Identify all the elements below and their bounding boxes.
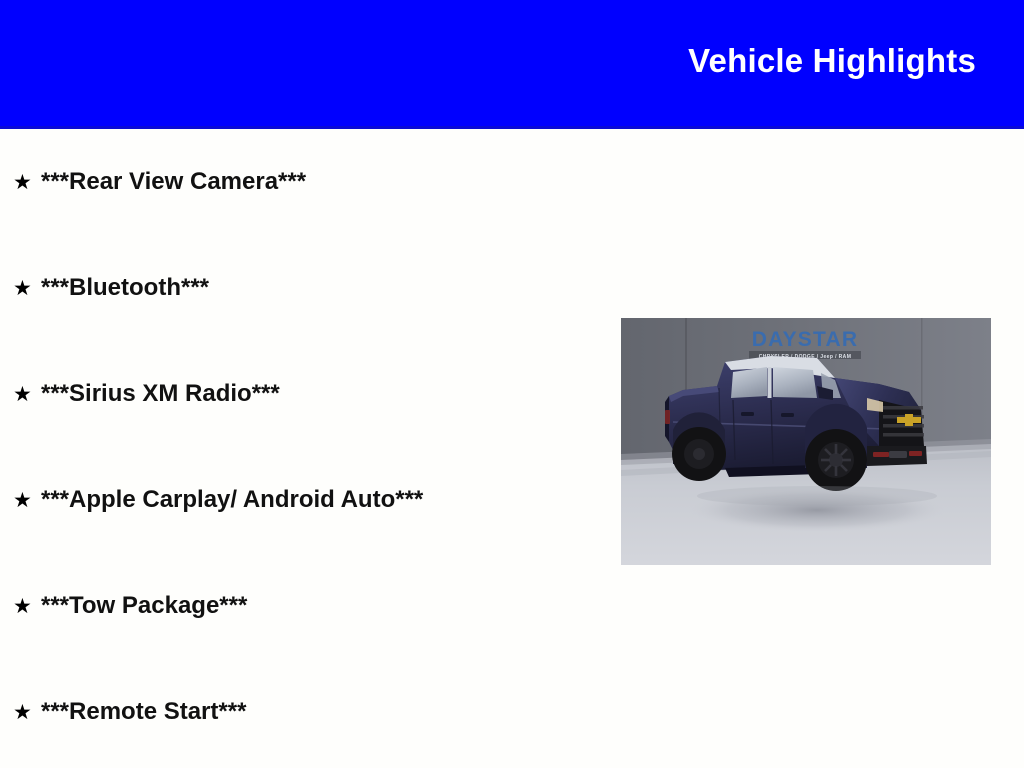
highlight-label: ***Apple Carplay/ Android Auto*** — [41, 488, 423, 512]
star-bullet-icon: ★ — [13, 596, 41, 617]
list-item: ★ ***Remote Start*** — [0, 659, 600, 765]
vehicle-highlights-list: ★ ***Rear View Camera*** ★ ***Bluetooth*… — [0, 129, 600, 765]
rear-door-window — [731, 367, 767, 398]
star-bullet-icon: ★ — [13, 278, 41, 299]
header-banner: Vehicle Highlights — [0, 0, 1024, 129]
page-title: Vehicle Highlights — [688, 44, 976, 77]
highlight-label: ***Sirius XM Radio*** — [41, 382, 280, 406]
highlight-label: ***Remote Start*** — [41, 700, 246, 724]
door-handle-rear — [741, 412, 754, 416]
star-bullet-icon: ★ — [13, 384, 41, 405]
tail-light — [665, 410, 670, 424]
list-item: ★ ***Tow Package*** — [0, 553, 600, 659]
grille-slat — [883, 424, 924, 428]
list-item: ★ ***Bluetooth*** — [0, 235, 600, 341]
reflector-left — [873, 452, 889, 457]
list-item: ★ ***Sirius XM Radio*** — [0, 341, 600, 447]
grille-slat — [883, 433, 924, 437]
list-item: ★ ***Rear View Camera*** — [0, 129, 600, 235]
highlight-label: ***Rear View Camera*** — [41, 170, 306, 194]
highlight-label: ***Tow Package*** — [41, 594, 247, 618]
vehicle-photo-illustration: DAYSTAR CHRYSLER / DODGE / Jeep / RAM — [621, 318, 991, 565]
dealer-sign: DAYSTAR CHRYSLER / DODGE / Jeep / RAM — [749, 328, 861, 360]
vehicle-photo: DAYSTAR CHRYSLER / DODGE / Jeep / RAM — [621, 318, 991, 565]
floor-reflection — [697, 486, 937, 506]
tow-hook-opening — [889, 451, 907, 458]
front-hub — [829, 453, 843, 467]
star-bullet-icon: ★ — [13, 172, 41, 193]
reflector-right — [909, 451, 922, 456]
star-bullet-icon: ★ — [13, 490, 41, 511]
door-handle-front — [781, 413, 794, 417]
dealer-sign-text: DAYSTAR — [752, 328, 858, 351]
star-bullet-icon: ★ — [13, 702, 41, 723]
front-door-window — [773, 367, 817, 398]
rear-hub — [693, 448, 705, 460]
b-pillar — [768, 367, 772, 398]
grille-slat — [883, 406, 923, 410]
highlight-label: ***Bluetooth*** — [41, 276, 209, 300]
list-item: ★ ***Apple Carplay/ Android Auto*** — [0, 447, 600, 553]
